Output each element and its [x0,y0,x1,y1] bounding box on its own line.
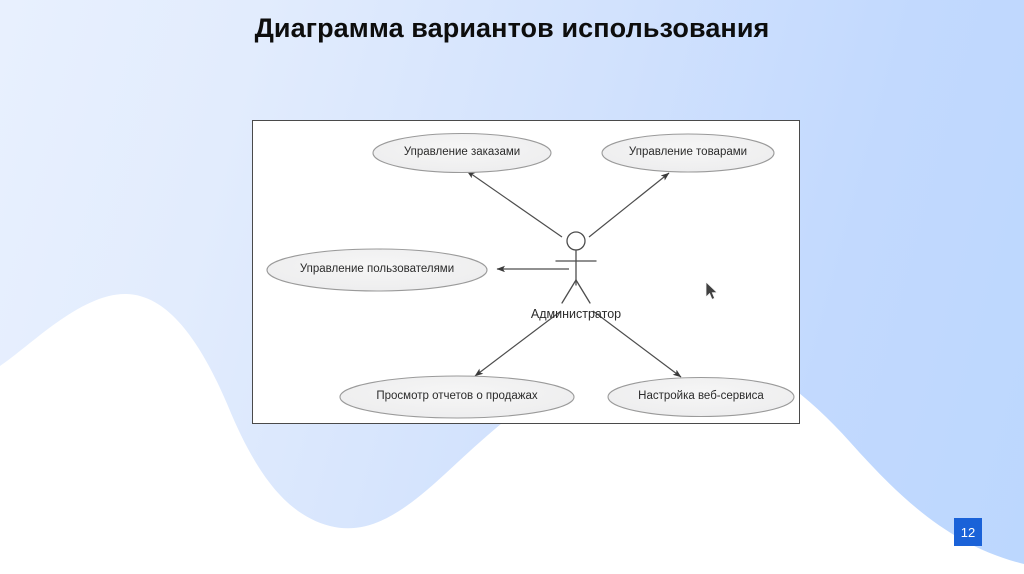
use-case-ellipse-order-management[interactable] [373,134,551,173]
use-case-ellipse-sales-reports[interactable] [340,376,574,418]
use-case-ellipse-web-service-settings[interactable] [608,378,794,417]
use-case-diagram-graphics [253,121,799,423]
page-title: Диаграмма вариантов использования [0,13,1024,44]
page-number-badge: 12 [954,518,982,546]
actor-leg-left-icon [562,280,576,303]
use-case-diagram-frame: Управление заказами Управление товарами … [252,120,800,424]
association-line-order-management [467,171,562,237]
slide-canvas: Диаграмма вариантов использования [0,0,1024,574]
actor-figure-administrator[interactable] [556,232,596,303]
use-case-ellipse-product-management[interactable] [602,134,774,172]
actor-leg-right-icon [576,280,590,303]
association-line-product-management [589,173,669,237]
use-case-ellipse-user-management[interactable] [267,249,487,291]
actor-label-administrator: Администратор [501,307,651,321]
actor-head-icon [567,232,585,250]
